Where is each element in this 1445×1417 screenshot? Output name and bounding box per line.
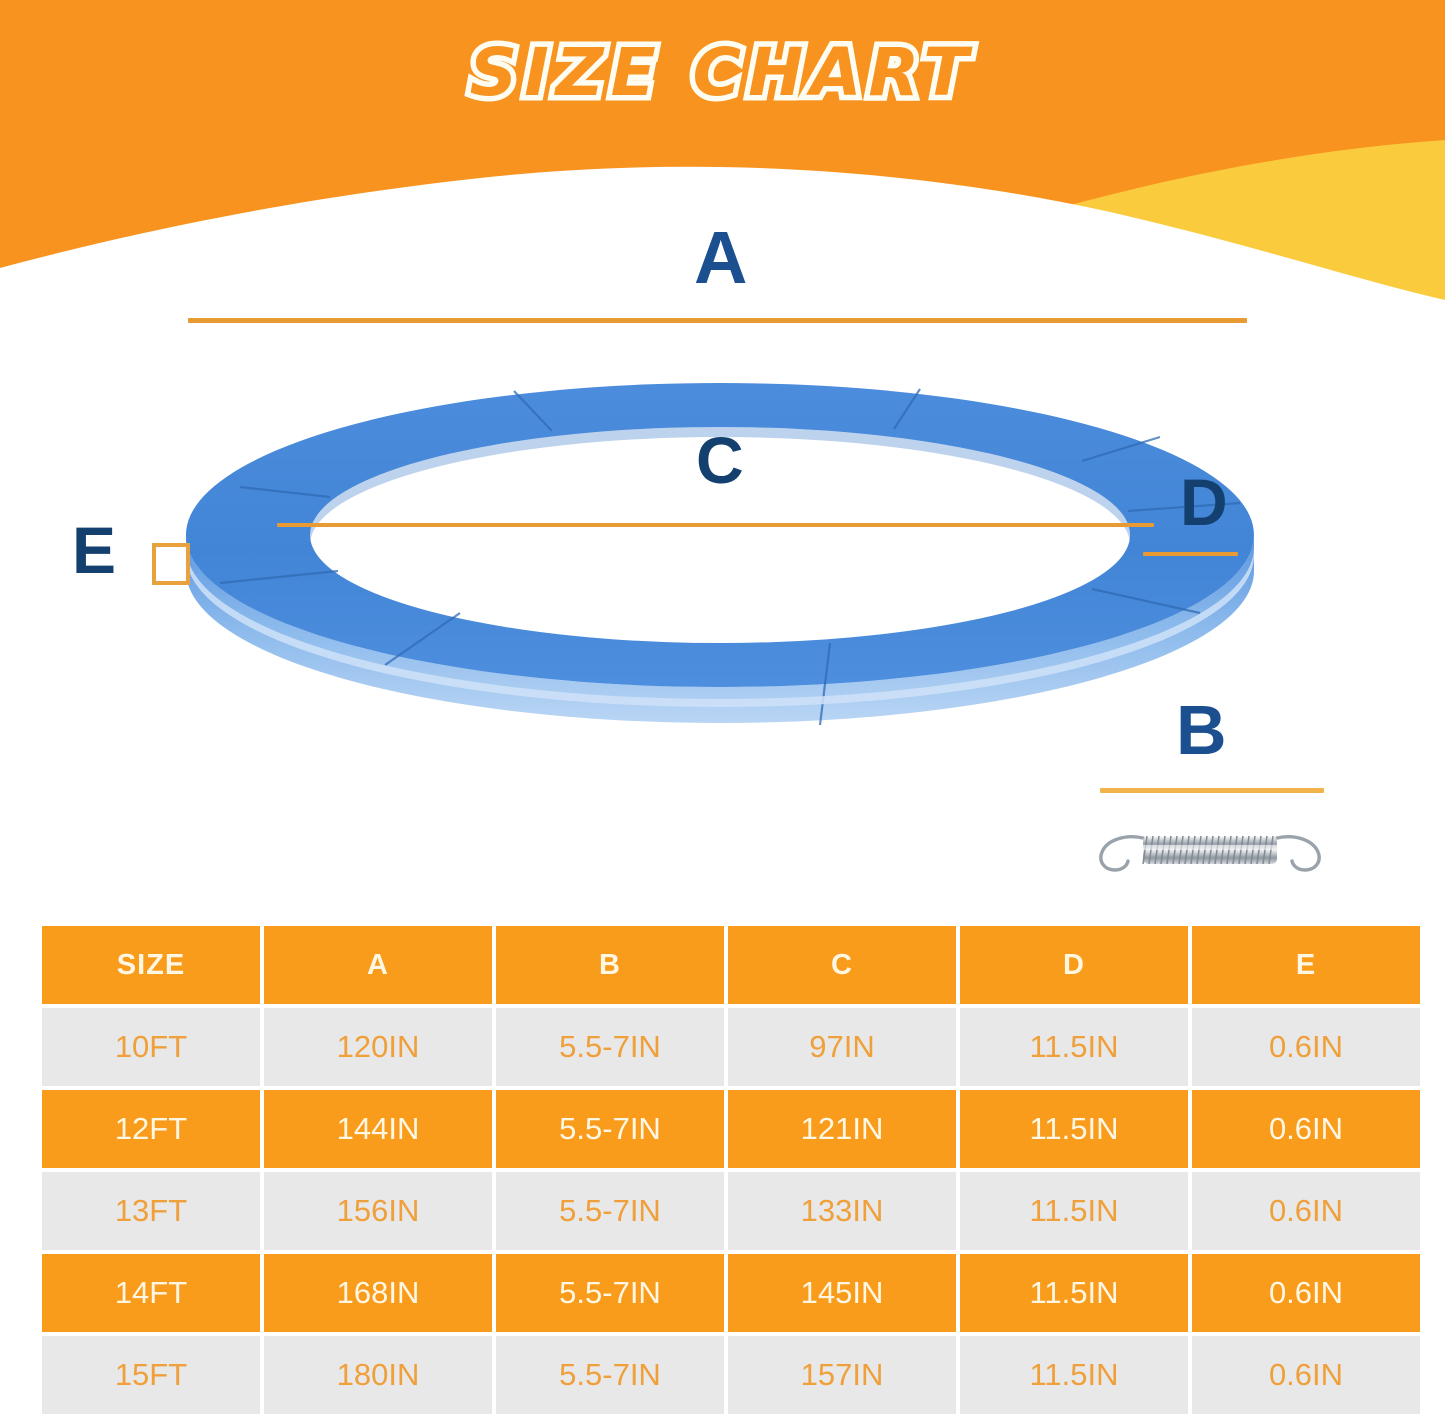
cell-a: 120IN bbox=[264, 1008, 492, 1086]
cell-e: 0.6IN bbox=[1192, 1336, 1420, 1414]
column-header-d: D bbox=[960, 926, 1188, 1004]
cell-d: 11.5IN bbox=[960, 1172, 1188, 1250]
dimension-label-b: B bbox=[1176, 695, 1227, 765]
cell-d: 11.5IN bbox=[960, 1336, 1188, 1414]
cell-size: 15FT bbox=[42, 1336, 260, 1414]
cell-size: 14FT bbox=[42, 1254, 260, 1332]
cell-a: 156IN bbox=[264, 1172, 492, 1250]
dimension-label-a: A bbox=[694, 221, 747, 295]
table-header-row: SIZE A B C D E bbox=[42, 926, 1420, 1004]
cell-size: 12FT bbox=[42, 1090, 260, 1168]
size-chart-page: SIZE CHART A bbox=[0, 0, 1445, 1417]
cell-b: 5.5-7IN bbox=[496, 1172, 724, 1250]
size-chart-table: SIZE A B C D E 10FT 120IN 5.5-7IN 97IN 1… bbox=[38, 922, 1424, 1417]
cell-e: 0.6IN bbox=[1192, 1172, 1420, 1250]
cell-a: 180IN bbox=[264, 1336, 492, 1414]
spring-icon bbox=[1085, 820, 1335, 880]
page-title: SIZE CHART bbox=[0, 34, 1445, 111]
dimension-line-a bbox=[188, 318, 1247, 323]
dimension-label-d: D bbox=[1180, 469, 1228, 535]
cell-b: 5.5-7IN bbox=[496, 1336, 724, 1414]
cell-a: 144IN bbox=[264, 1090, 492, 1168]
cell-c: 157IN bbox=[728, 1336, 956, 1414]
cell-e: 0.6IN bbox=[1192, 1254, 1420, 1332]
cell-b: 5.5-7IN bbox=[496, 1008, 724, 1086]
column-header-a: A bbox=[264, 926, 492, 1004]
dimension-line-c bbox=[277, 523, 1154, 527]
cell-d: 11.5IN bbox=[960, 1090, 1188, 1168]
cell-c: 133IN bbox=[728, 1172, 956, 1250]
cell-c: 121IN bbox=[728, 1090, 956, 1168]
diagram-area: A bbox=[0, 195, 1445, 915]
column-header-e: E bbox=[1192, 926, 1420, 1004]
cell-size: 10FT bbox=[42, 1008, 260, 1086]
table-row: 15FT 180IN 5.5-7IN 157IN 11.5IN 0.6IN bbox=[42, 1336, 1420, 1414]
cell-c: 97IN bbox=[728, 1008, 956, 1086]
cell-b: 5.5-7IN bbox=[496, 1090, 724, 1168]
cell-e: 0.6IN bbox=[1192, 1090, 1420, 1168]
dimension-label-e: E bbox=[72, 517, 116, 583]
cell-b: 5.5-7IN bbox=[496, 1254, 724, 1332]
cell-c: 145IN bbox=[728, 1254, 956, 1332]
cell-d: 11.5IN bbox=[960, 1008, 1188, 1086]
column-header-b: B bbox=[496, 926, 724, 1004]
dimension-line-b bbox=[1100, 788, 1324, 793]
cell-size: 13FT bbox=[42, 1172, 260, 1250]
table-row: 12FT 144IN 5.5-7IN 121IN 11.5IN 0.6IN bbox=[42, 1090, 1420, 1168]
dimension-line-d bbox=[1143, 552, 1238, 556]
column-header-size: SIZE bbox=[42, 926, 260, 1004]
cell-a: 168IN bbox=[264, 1254, 492, 1332]
table-row: 10FT 120IN 5.5-7IN 97IN 11.5IN 0.6IN bbox=[42, 1008, 1420, 1086]
cell-e: 0.6IN bbox=[1192, 1008, 1420, 1086]
thickness-bracket-icon bbox=[152, 543, 190, 585]
table-row: 13FT 156IN 5.5-7IN 133IN 11.5IN 0.6IN bbox=[42, 1172, 1420, 1250]
dimension-label-c: C bbox=[696, 427, 744, 493]
column-header-c: C bbox=[728, 926, 956, 1004]
cell-d: 11.5IN bbox=[960, 1254, 1188, 1332]
table-row: 14FT 168IN 5.5-7IN 145IN 11.5IN 0.6IN bbox=[42, 1254, 1420, 1332]
